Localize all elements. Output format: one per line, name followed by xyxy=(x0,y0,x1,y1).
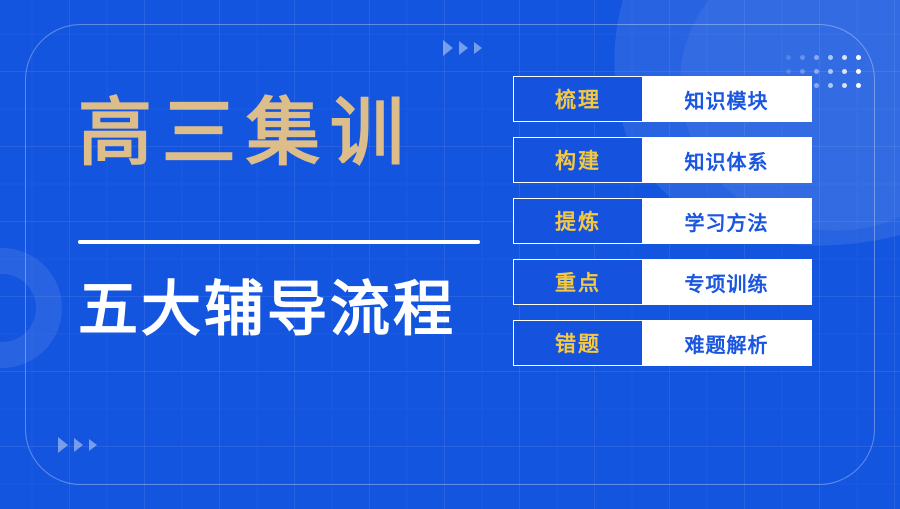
steps-list: 梳理 知识模块 构建 知识体系 提炼 学习方法 重点 专项训练 错题 难题解析 xyxy=(513,76,812,366)
list-item[interactable]: 错题 难题解析 xyxy=(513,320,812,366)
list-item[interactable]: 提炼 学习方法 xyxy=(513,198,812,244)
step-key-label: 构建 xyxy=(514,138,642,182)
step-value-label: 知识模块 xyxy=(642,77,811,121)
title-divider xyxy=(78,240,480,244)
headline-block: 高三集训 五大辅导流程 xyxy=(78,96,488,340)
step-value-label: 知识体系 xyxy=(642,138,811,182)
triple-arrow-top-icon xyxy=(443,40,482,56)
step-key-label: 重点 xyxy=(514,260,642,304)
page-subtitle: 五大辅导流程 xyxy=(78,280,488,340)
step-value-label: 学习方法 xyxy=(642,199,811,243)
list-item[interactable]: 梳理 知识模块 xyxy=(513,76,812,122)
page-title: 高三集训 xyxy=(78,96,488,170)
list-item[interactable]: 构建 知识体系 xyxy=(513,137,812,183)
step-key-label: 错题 xyxy=(514,321,642,365)
step-key-label: 梳理 xyxy=(514,77,642,121)
triple-arrow-bottom-icon xyxy=(58,437,97,453)
step-value-label: 难题解析 xyxy=(642,321,811,365)
ring-left-icon xyxy=(0,248,62,368)
poster-canvas: 高三集训 五大辅导流程 梳理 知识模块 构建 知识体系 提炼 学习方法 重点 专… xyxy=(0,0,900,509)
list-item[interactable]: 重点 专项训练 xyxy=(513,259,812,305)
step-key-label: 提炼 xyxy=(514,199,642,243)
step-value-label: 专项训练 xyxy=(642,260,811,304)
